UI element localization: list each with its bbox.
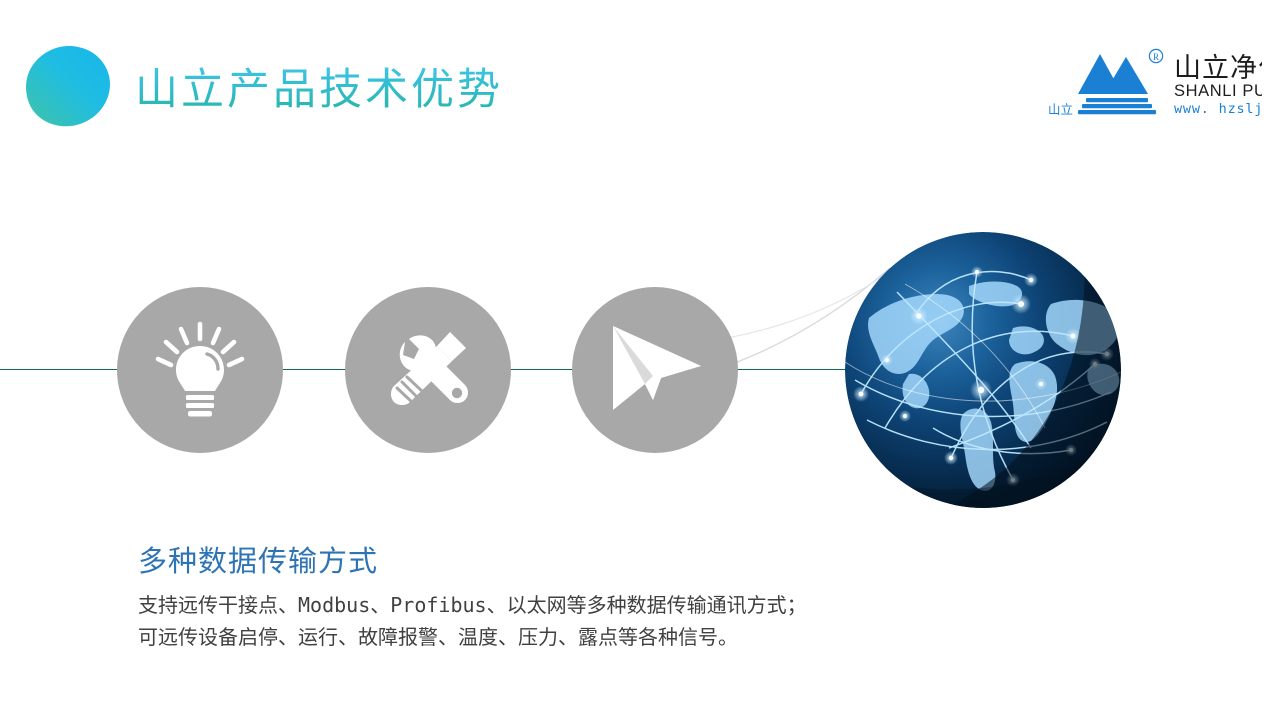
shanli-mountain-mark <box>1078 54 1156 114</box>
tools-wrench-screwdriver-icon <box>345 287 511 453</box>
logo-company-en: SHANLI PURIFY <box>1174 82 1262 100</box>
network-globe-image <box>845 232 1121 508</box>
page-title: 山立产品技术优势 <box>135 60 503 120</box>
company-logo: R 山立 山立净化 SHANLI PURIFY www. hzsljh. com <box>1046 44 1262 122</box>
teal-blob <box>22 44 114 130</box>
lightbulb-icon <box>117 287 283 453</box>
slide-root: 山立产品技术优势 R 山立 山立净化 SHANLI PURIFY <box>0 0 1280 720</box>
body-line-1: 支持远传干接点、Modbus、Profibus、以太网等多种数据传输通讯方式； <box>138 589 898 621</box>
paper-plane-send-icon <box>572 287 738 453</box>
section-body: 支持远传干接点、Modbus、Profibus、以太网等多种数据传输通讯方式； … <box>138 589 898 653</box>
logo-website: www. hzsljh. com <box>1174 101 1262 117</box>
registered-trademark-icon: R <box>1149 49 1162 62</box>
logo-mark-caption: 山立 <box>1048 102 1073 117</box>
section-heading: 多种数据传输方式 <box>138 541 378 581</box>
svg-text:R: R <box>1153 52 1159 62</box>
body-line-2: 可远传设备启停、运行、故障报警、温度、压力、露点等各种信号。 <box>138 621 898 653</box>
logo-company-cn: 山立净化 <box>1174 53 1262 84</box>
